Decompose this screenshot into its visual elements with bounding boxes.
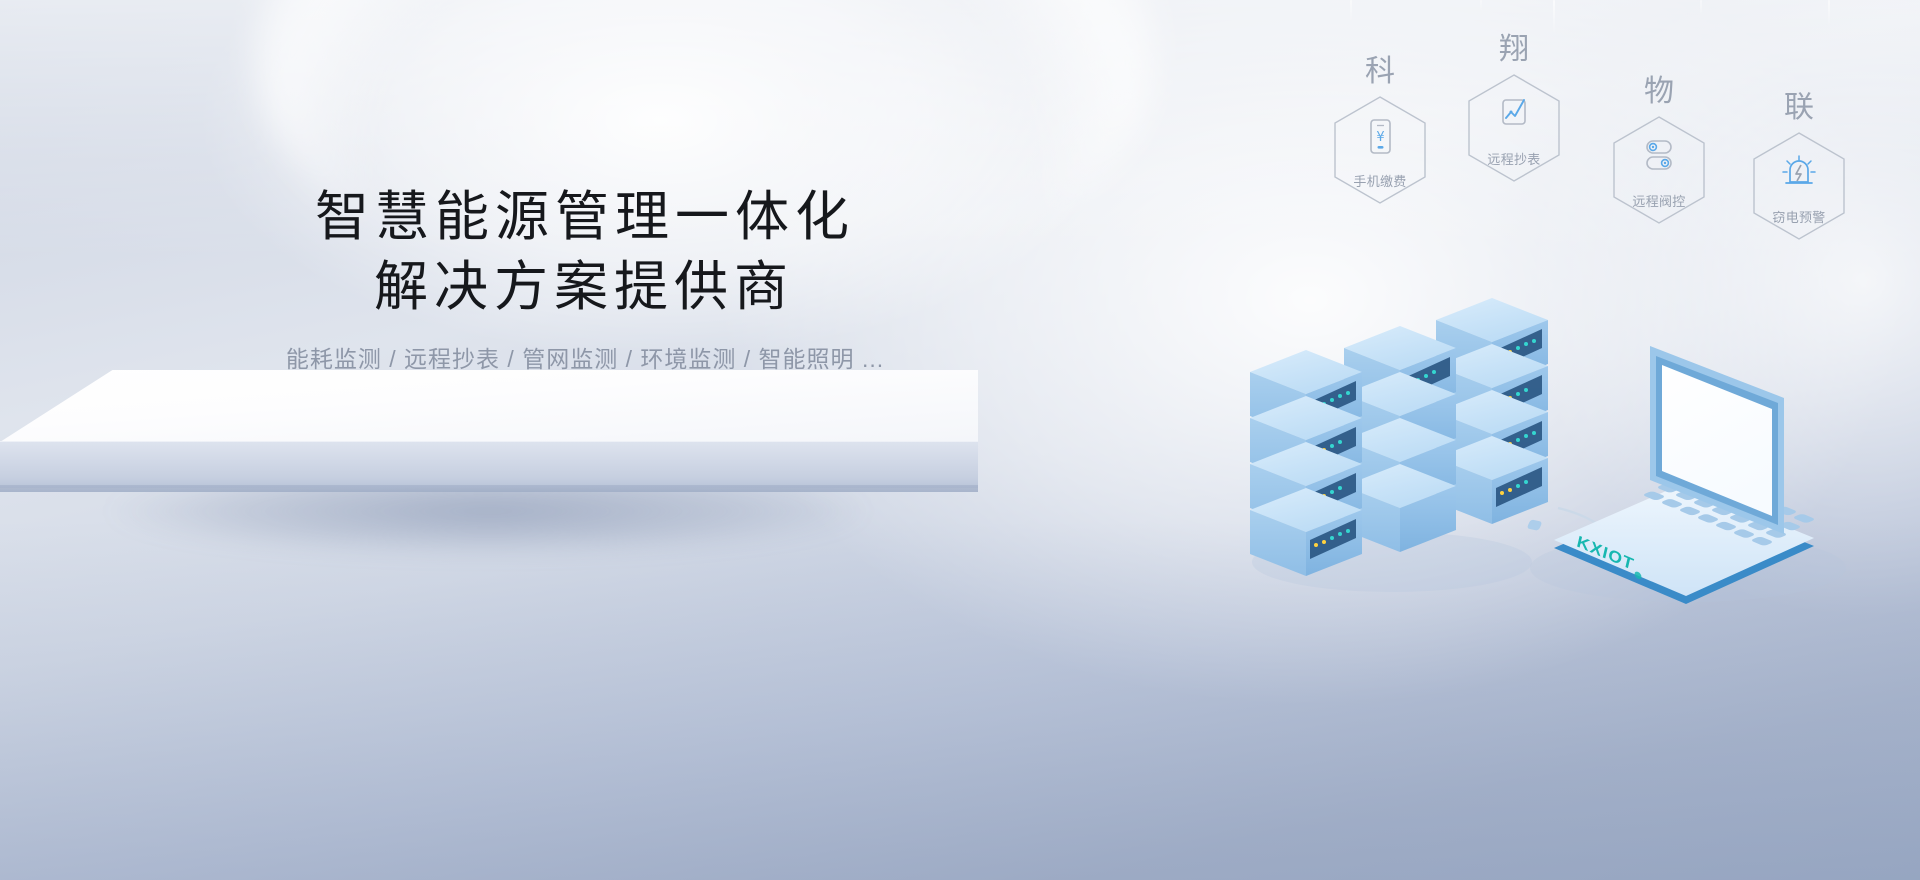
mobile-payment-icon: ¥ bbox=[1359, 116, 1401, 160]
feature-kanji: 科 bbox=[1365, 46, 1395, 90]
hero-subtitle: 能耗监测 / 远程抄表 / 管网监测 / 环境监测 / 智能照明 ... bbox=[185, 340, 985, 374]
hero-headline: 智慧能源管理一体化 解决方案提供商 bbox=[205, 182, 965, 322]
remote-valve-control-icon bbox=[1638, 136, 1680, 180]
feature-kanji: 翔 bbox=[1499, 24, 1529, 68]
server-rack-left bbox=[1250, 350, 1362, 576]
sparkle-icon bbox=[1350, 0, 1352, 22]
power-theft-alarm-icon bbox=[1778, 152, 1820, 196]
hexagon-frame: ¥ 手机缴费 bbox=[1330, 94, 1430, 206]
hero-banner: 智慧能源管理一体化 解决方案提供商 能耗监测 / 远程抄表 / 管网监测 / 环… bbox=[0, 0, 1920, 880]
feature-kanji: 联 bbox=[1784, 82, 1814, 126]
laptop-keyboard bbox=[1527, 519, 1543, 531]
feature-label: 手机缴费 bbox=[1353, 171, 1406, 190]
shelf-bottom-bevel bbox=[0, 485, 978, 492]
remote-meter-reading-icon bbox=[1493, 94, 1535, 138]
sparkle-icon bbox=[1828, 0, 1830, 26]
shelf-front-face bbox=[0, 441, 978, 488]
shelf-platform bbox=[0, 370, 1010, 590]
sparkle-icon bbox=[1700, 0, 1702, 16]
feature-label: 远程抄表 bbox=[1487, 149, 1540, 168]
svg-text:¥: ¥ bbox=[1376, 130, 1384, 145]
isometric-illustration: KXIOT bbox=[1240, 250, 1920, 670]
headline-line-1: 智慧能源管理一体化 bbox=[205, 182, 965, 252]
feature-hex-group: 科 ¥ 手机缴费 翔 bbox=[1300, 24, 1920, 224]
feature-label: 远程阀控 bbox=[1632, 191, 1685, 210]
feature-kanji: 物 bbox=[1644, 66, 1674, 110]
feature-label: 窃电预警 bbox=[1772, 207, 1825, 226]
hexagon-frame: 远程阀控 bbox=[1609, 114, 1709, 226]
hexagon-frame: 远程抄表 bbox=[1464, 72, 1564, 184]
sparkle-icon bbox=[1480, 0, 1482, 12]
headline-line-2: 解决方案提供商 bbox=[203, 252, 965, 322]
shelf-top-surface bbox=[0, 370, 978, 442]
hexagon-frame: 窃电预警 bbox=[1749, 130, 1849, 242]
